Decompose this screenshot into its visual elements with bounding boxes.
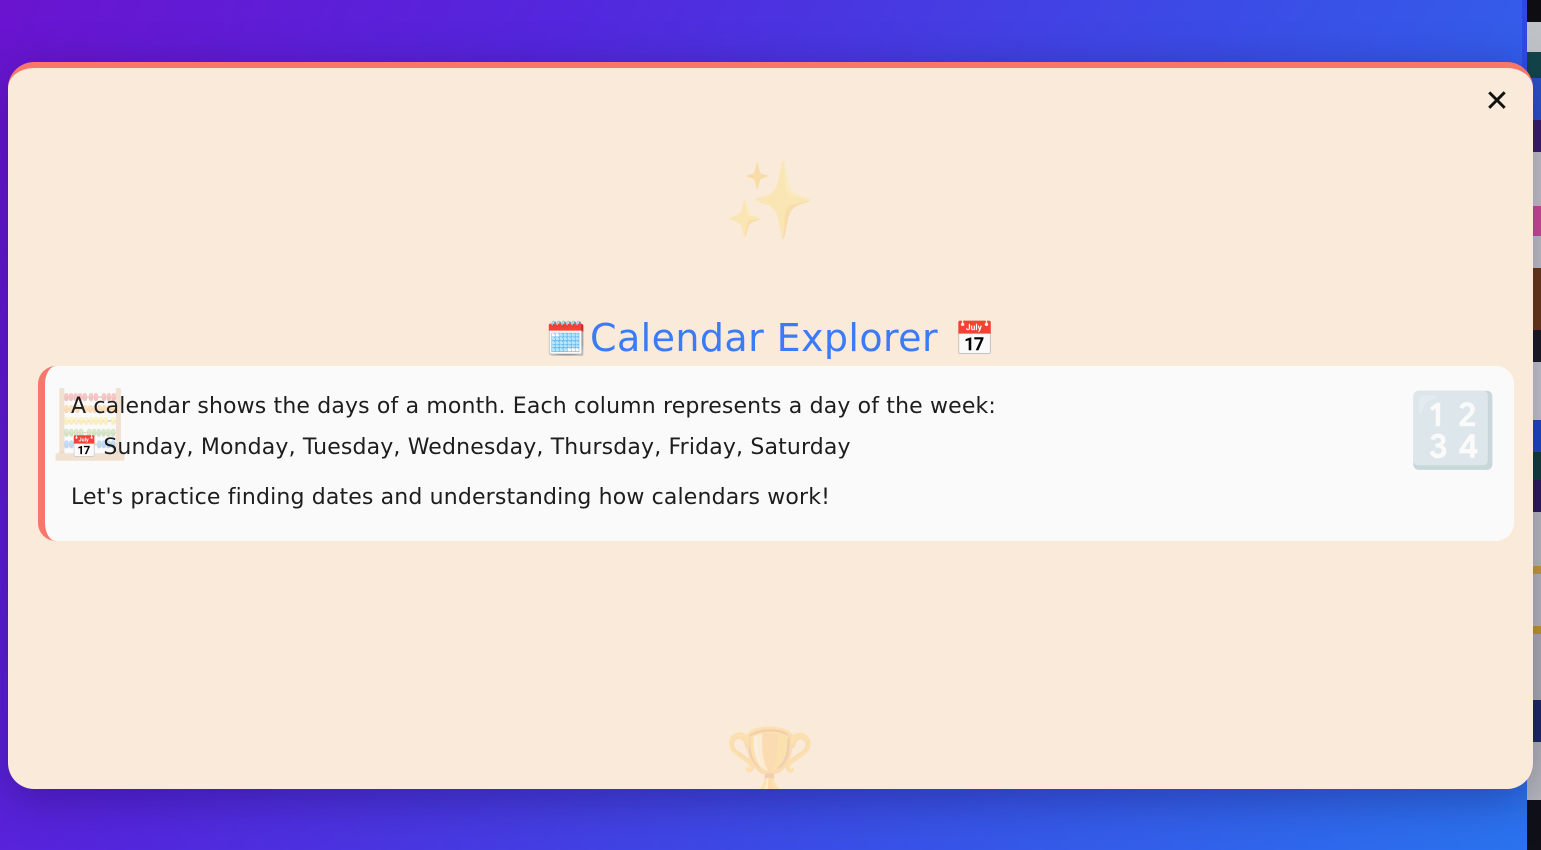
close-icon[interactable]: ✕ xyxy=(1475,80,1519,124)
lesson-text-line-1: A calendar shows the days of a month. Ea… xyxy=(71,392,1484,422)
page-title-text: Calendar Explorer xyxy=(590,316,938,360)
trophy-icon: 🏆 xyxy=(724,730,816,789)
lesson-text-line-3: Let's practice finding dates and underst… xyxy=(71,483,1484,513)
lesson-text-line-2-text: Sunday, Monday, Tuesday, Wednesday, Thur… xyxy=(103,435,850,460)
sparkles-icon: ✨ xyxy=(724,164,816,238)
calendar-spiral-icon: 🗓️ xyxy=(546,319,587,358)
calendar-explorer-modal: ✕ ✨ 🗓️Calendar Explorer📅 🧮 🔢 A calendar … xyxy=(8,62,1533,789)
calendar-date-icon: 📅 xyxy=(71,435,97,459)
page-title: 🗓️Calendar Explorer📅 xyxy=(8,316,1533,360)
lesson-text-line-2: 📅Sunday, Monday, Tuesday, Wednesday, Thu… xyxy=(71,433,1484,463)
lesson-content-card: 🧮 🔢 A calendar shows the days of a month… xyxy=(38,366,1514,541)
calendar-icon: 📅 xyxy=(954,319,995,358)
